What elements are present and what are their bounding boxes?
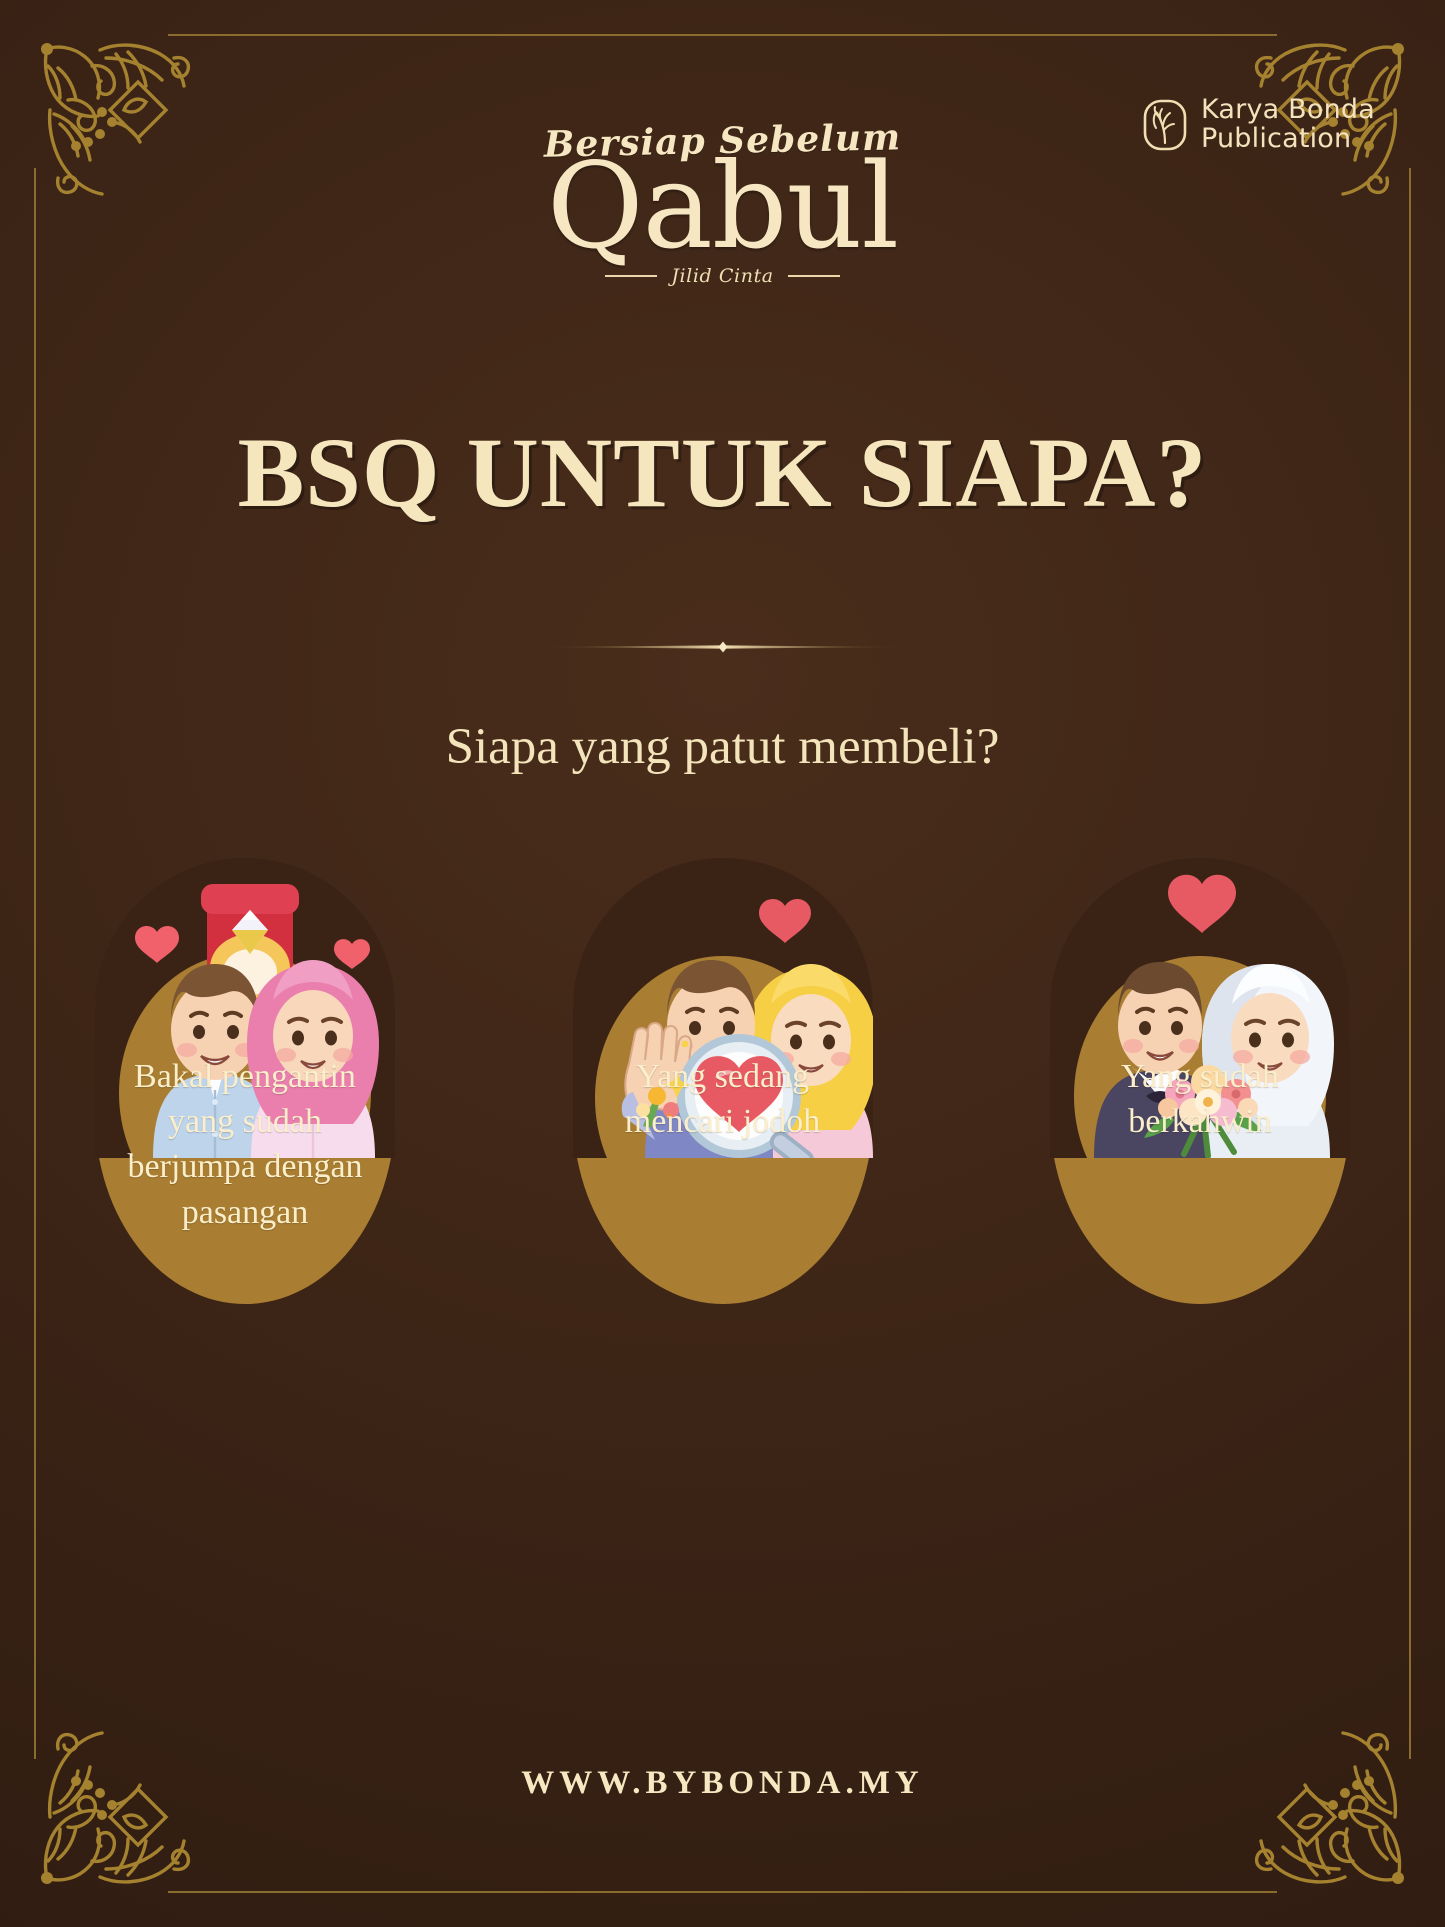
frame-line-top [168,34,1277,36]
audience-card-list: Bakal pengantin yang sudah berjumpa deng… [95,862,1350,1304]
subtitle-dash-right [788,275,840,277]
frame-line-left [34,168,36,1759]
subtitle-dash-left [605,275,657,277]
audience-card[interactable]: Yang sedang mencari jodoh [573,862,873,1304]
page-title: BSQ UNTUK SIAPA? [0,415,1445,530]
audience-card-label: Yang sedang mencari jodoh [573,1054,873,1184]
website-url[interactable]: WWW.BYBONDA.MY [0,1765,1445,1802]
audience-card[interactable]: Bakal pengantin yang sudah berjumpa deng… [95,862,395,1304]
corner-ornament-icon [14,1713,214,1913]
audience-card-label: Yang sudah berkahwin [1050,1054,1350,1184]
audience-card[interactable]: Yang sudah berkahwin [1050,862,1350,1304]
poster-canvas: Karya Bonda Publication Bersiap Sebelum … [0,0,1445,1927]
audience-card-label: Bakal pengantin yang sudah berjumpa deng… [95,1054,395,1275]
frame-line-bottom [168,1891,1277,1893]
frame-line-right [1409,168,1411,1759]
page-subtitle: Siapa yang patut membeli? [0,718,1445,776]
book-logo: Bersiap Sebelum Qabul Jilid Cinta [0,120,1445,287]
book-subtitle: Jilid Cinta [671,265,773,287]
book-subtitle-row: Jilid Cinta [0,265,1445,287]
corner-ornament-icon [1231,1713,1431,1913]
section-divider [538,640,908,654]
